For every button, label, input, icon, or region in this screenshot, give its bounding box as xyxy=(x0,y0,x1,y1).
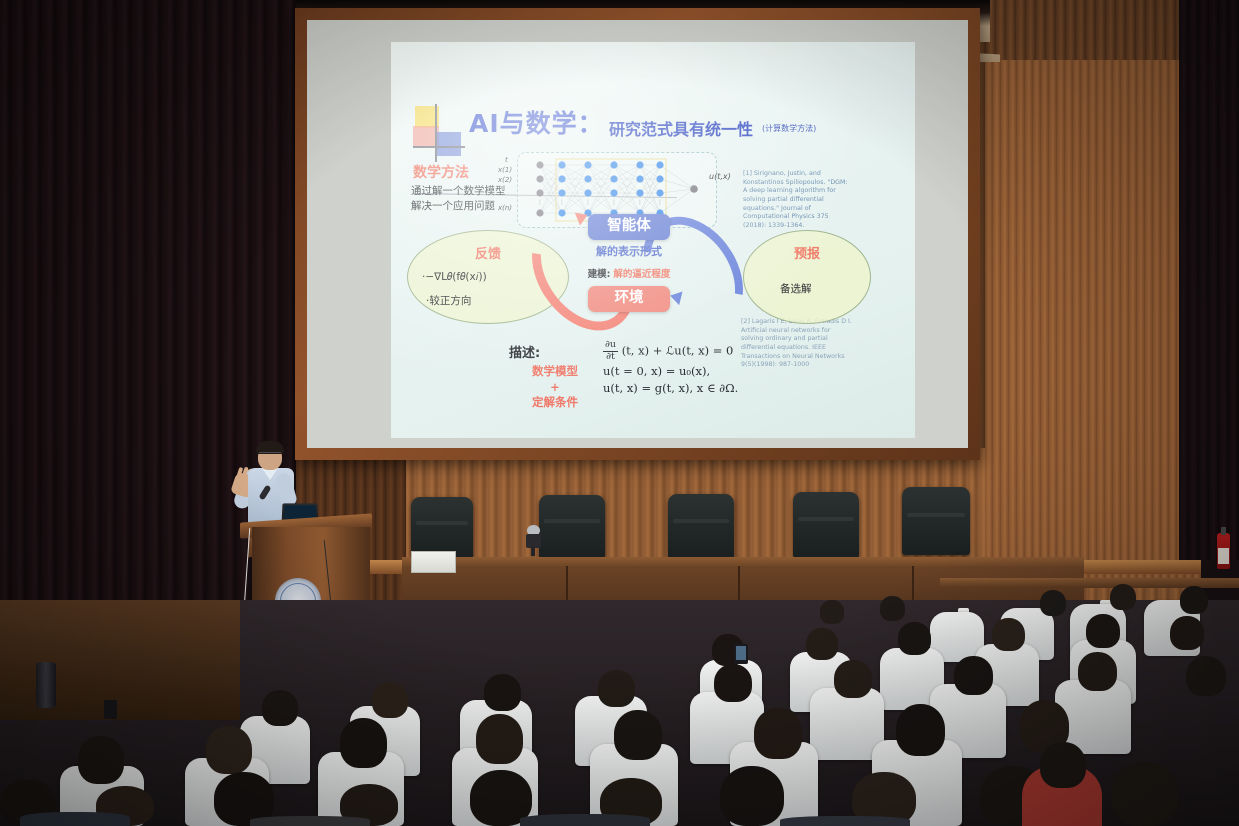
description-plus: + xyxy=(513,380,597,396)
description-label: 描述: xyxy=(509,342,540,361)
audience-head xyxy=(484,674,521,711)
forecast-ellipse: 预报 备选解 xyxy=(743,230,871,324)
svg-text:⋮: ⋮ xyxy=(585,199,591,206)
curtain-right xyxy=(1179,0,1239,560)
forecast-item-1: 备选解 xyxy=(780,281,812,296)
presentation-slide: AI与数学： 研究范式具有统一性 (计算数学方法) 数学方法 通过解一个数学模型… xyxy=(391,42,915,438)
audience-head xyxy=(714,664,752,702)
audience-head xyxy=(1110,584,1136,610)
decoration-square-blue xyxy=(435,132,461,156)
equation-1-fraction: ∂u ∂t xyxy=(603,340,618,363)
slide-title-main: AI与数学： xyxy=(469,104,604,140)
lecture-hall-photo: AI与数学： 研究范式具有统一性 (计算数学方法) 数学方法 通过解一个数学模型… xyxy=(0,0,1239,826)
raised-phone-2 xyxy=(104,700,117,719)
environment-node: 环境 xyxy=(588,286,670,312)
audience-head xyxy=(1086,614,1120,648)
audience-head xyxy=(820,600,844,624)
description-conditions: 定解条件 xyxy=(513,395,597,411)
equations-block: ∂u ∂t (t, x) + ℒu(t, x) = 0 u(t = 0, x) … xyxy=(603,340,738,397)
head-chair-5 xyxy=(902,487,970,555)
fire-extinguisher-nozzle xyxy=(1221,527,1226,535)
agent-caption: 解的表示形式 xyxy=(576,243,682,259)
slide-decoration xyxy=(413,104,465,162)
reference-2: [2] Lagaris I E, Likas A, Fotiadis D I. … xyxy=(741,318,853,370)
nn-input-label-xn: x(n) xyxy=(498,204,512,212)
svg-text:⋮: ⋮ xyxy=(559,199,565,206)
wood-wall-right xyxy=(985,60,1201,580)
decoration-line-vertical xyxy=(435,104,437,162)
audience-head xyxy=(614,710,662,760)
raised-phone-screen xyxy=(736,646,746,660)
decoration-line-horizontal xyxy=(413,146,465,148)
head-chair-2 xyxy=(539,495,605,559)
audience-head xyxy=(1040,590,1066,616)
audience-head xyxy=(598,670,635,707)
head-chair-1 xyxy=(411,497,473,559)
projection-screen-frame: AI与数学： 研究范式具有统一性 (计算数学方法) 数学方法 通过解一个数学模型… xyxy=(295,8,980,460)
svg-text:⋮: ⋮ xyxy=(611,199,617,206)
equation-1-denominator: ∂t xyxy=(603,352,618,363)
audience-head xyxy=(834,660,872,698)
modeling-prefix: 建模: xyxy=(588,269,611,280)
math-method-heading: 数学方法 xyxy=(413,162,469,182)
modeling-highlight: 解的逼近程度 xyxy=(613,269,670,280)
agent-node: 智能体 xyxy=(588,214,670,240)
audience-head xyxy=(720,766,784,826)
equation-2: u(t = 0, x) = u₀(x), xyxy=(603,363,738,380)
head-chair-4 xyxy=(793,492,859,558)
fire-extinguisher-label xyxy=(1218,548,1229,564)
audience-head xyxy=(1186,656,1226,696)
description-model: 数学模型 xyxy=(513,364,597,380)
audience-head xyxy=(1180,586,1208,614)
camera-tripod xyxy=(531,547,535,556)
audience-head xyxy=(992,618,1025,651)
nn-input-label-t: t xyxy=(505,156,508,164)
audience-head xyxy=(78,736,124,784)
audience-head xyxy=(476,714,523,764)
audience-head xyxy=(372,682,408,718)
video-camera xyxy=(524,525,542,555)
table-namecard xyxy=(411,551,456,573)
audience-head xyxy=(1112,762,1178,826)
nn-output-label: u(t,x) xyxy=(709,172,731,181)
audience-head xyxy=(806,628,838,660)
modeling-caption: 建模: 解的逼近程度 xyxy=(551,266,707,280)
math-method-body: 通过解一个数学模型 解决一个应用问题 xyxy=(411,184,506,214)
feedback-item-1: ·−∇L𝜃(f𝜃(x𝑖)) xyxy=(422,271,487,284)
thermos-bottle xyxy=(36,662,56,708)
svg-text:⋮: ⋮ xyxy=(657,199,663,206)
audience-head xyxy=(1040,742,1086,788)
projection-screen: AI与数学： 研究范式具有统一性 (计算数学方法) 数学方法 通过解一个数学模型… xyxy=(391,42,915,438)
svg-text:⋮: ⋮ xyxy=(537,199,543,206)
nn-input-label-x2: x(2) xyxy=(498,176,512,184)
reference-1: [1] Sirignano, Justin, and Konstantinos … xyxy=(743,170,853,231)
speaker-glasses xyxy=(259,452,281,458)
svg-text:⋮: ⋮ xyxy=(637,199,643,206)
camera-body xyxy=(526,534,541,548)
equation-1-rest: (t, x) + ℒu(t, x) = 0 xyxy=(622,343,734,357)
description-red-block: 数学模型 + 定解条件 xyxy=(513,364,597,411)
slide-title-note: (计算数学方法) xyxy=(762,123,816,134)
equation-3: u(t, x) = g(t, x), x ∈ ∂Ω. xyxy=(603,380,738,397)
equation-1: ∂u ∂t (t, x) + ℒu(t, x) = 0 xyxy=(603,340,738,363)
audience-head xyxy=(896,704,945,756)
audience-head xyxy=(1078,652,1117,691)
forecast-title: 预报 xyxy=(744,243,870,262)
audience-head xyxy=(262,690,298,726)
math-method-line1: 通过解一个数学模型 xyxy=(411,184,506,199)
head-chair-3 xyxy=(668,494,734,559)
audience-head xyxy=(898,622,931,655)
audience-head xyxy=(1170,616,1204,650)
audience-head xyxy=(340,718,387,768)
feedback-item-2: ·较正方向 xyxy=(426,293,471,308)
audience-head xyxy=(880,596,905,621)
nn-input-label-x1: x(1) xyxy=(498,166,512,174)
audience-head xyxy=(754,708,802,759)
math-method-line2: 解决一个应用问题 xyxy=(411,199,506,214)
slide-title-sub: 研究范式具有统一性 xyxy=(609,116,753,140)
audience-head xyxy=(206,726,252,774)
audience-head xyxy=(954,656,993,695)
